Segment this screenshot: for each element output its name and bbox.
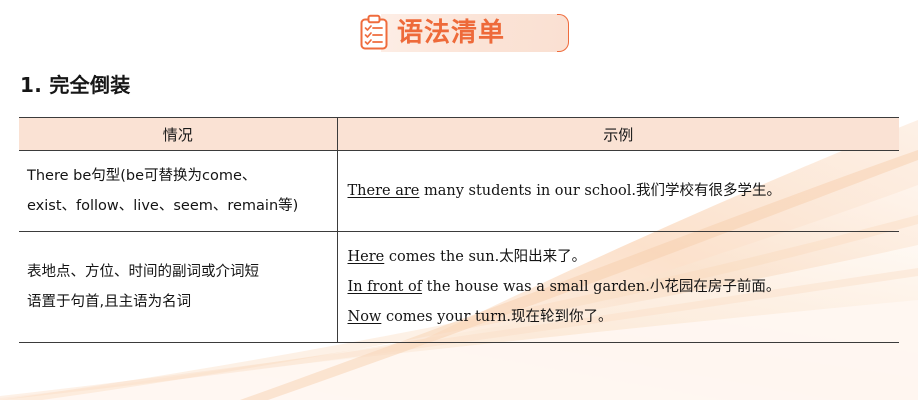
example-keyword: Now (348, 309, 382, 325)
table-header-row: 情况 示例 (19, 118, 899, 151)
cell-case: There be句型(be可替换为come、 exist、follow、live… (19, 151, 337, 232)
clipboard-icon (357, 14, 391, 52)
banner-title: 语法清单 (397, 14, 505, 52)
case-line: There be句型(be可替换为come、 (27, 161, 325, 191)
table-body: There be句型(be可替换为come、 exist、follow、live… (19, 151, 899, 343)
example-english: comes your turn. (381, 309, 511, 325)
table-row: There be句型(be可替换为come、 exist、follow、live… (19, 151, 899, 232)
example-line: Now comes your turn.现在轮到你了。 (348, 302, 892, 332)
column-header-case: 情况 (19, 118, 337, 151)
column-header-example: 示例 (337, 118, 899, 151)
table-header: 情况 示例 (19, 118, 899, 151)
example-chinese: 小花园在房子前面。 (650, 279, 781, 295)
example-chinese: 我们学校有很多学生。 (636, 183, 781, 199)
example-line: In front of the house was a small garden… (348, 272, 892, 302)
example-keyword: In front of (348, 279, 423, 295)
cell-example: Here comes the sun.太阳出来了。 In front of th… (337, 232, 899, 343)
table-row: 表地点、方位、时间的副词或介词短 语置于句首,且主语为名词 Here comes… (19, 232, 899, 343)
case-line: exist、follow、live、seem、remain等) (27, 191, 325, 221)
section-heading: 1. 完全倒装 (20, 69, 131, 98)
example-chinese: 现在轮到你了。 (511, 309, 613, 325)
example-line: Here comes the sun.太阳出来了。 (348, 242, 892, 272)
example-keyword: There are (348, 183, 420, 199)
cell-case: 表地点、方位、时间的副词或介词短 语置于句首,且主语为名词 (19, 232, 337, 343)
example-chinese: 太阳出来了。 (499, 249, 586, 265)
case-line: 表地点、方位、时间的副词或介词短 (27, 257, 325, 287)
cell-example: There are many students in our school.我们… (337, 151, 899, 232)
example-english: many students in our school. (419, 183, 636, 199)
example-english: the house was a small garden. (422, 279, 650, 295)
page-title-banner: 语法清单 (357, 14, 505, 52)
grammar-table-container: 情况 示例 There be句型(be可替换为come、 exist、follo… (19, 117, 899, 343)
case-line: 语置于句首,且主语为名词 (27, 287, 325, 317)
example-english: comes the sun. (384, 249, 499, 265)
grammar-table: 情况 示例 There be句型(be可替换为come、 exist、follo… (19, 117, 899, 343)
example-keyword: Here (348, 249, 385, 265)
example-line: There are many students in our school.我们… (348, 176, 892, 206)
